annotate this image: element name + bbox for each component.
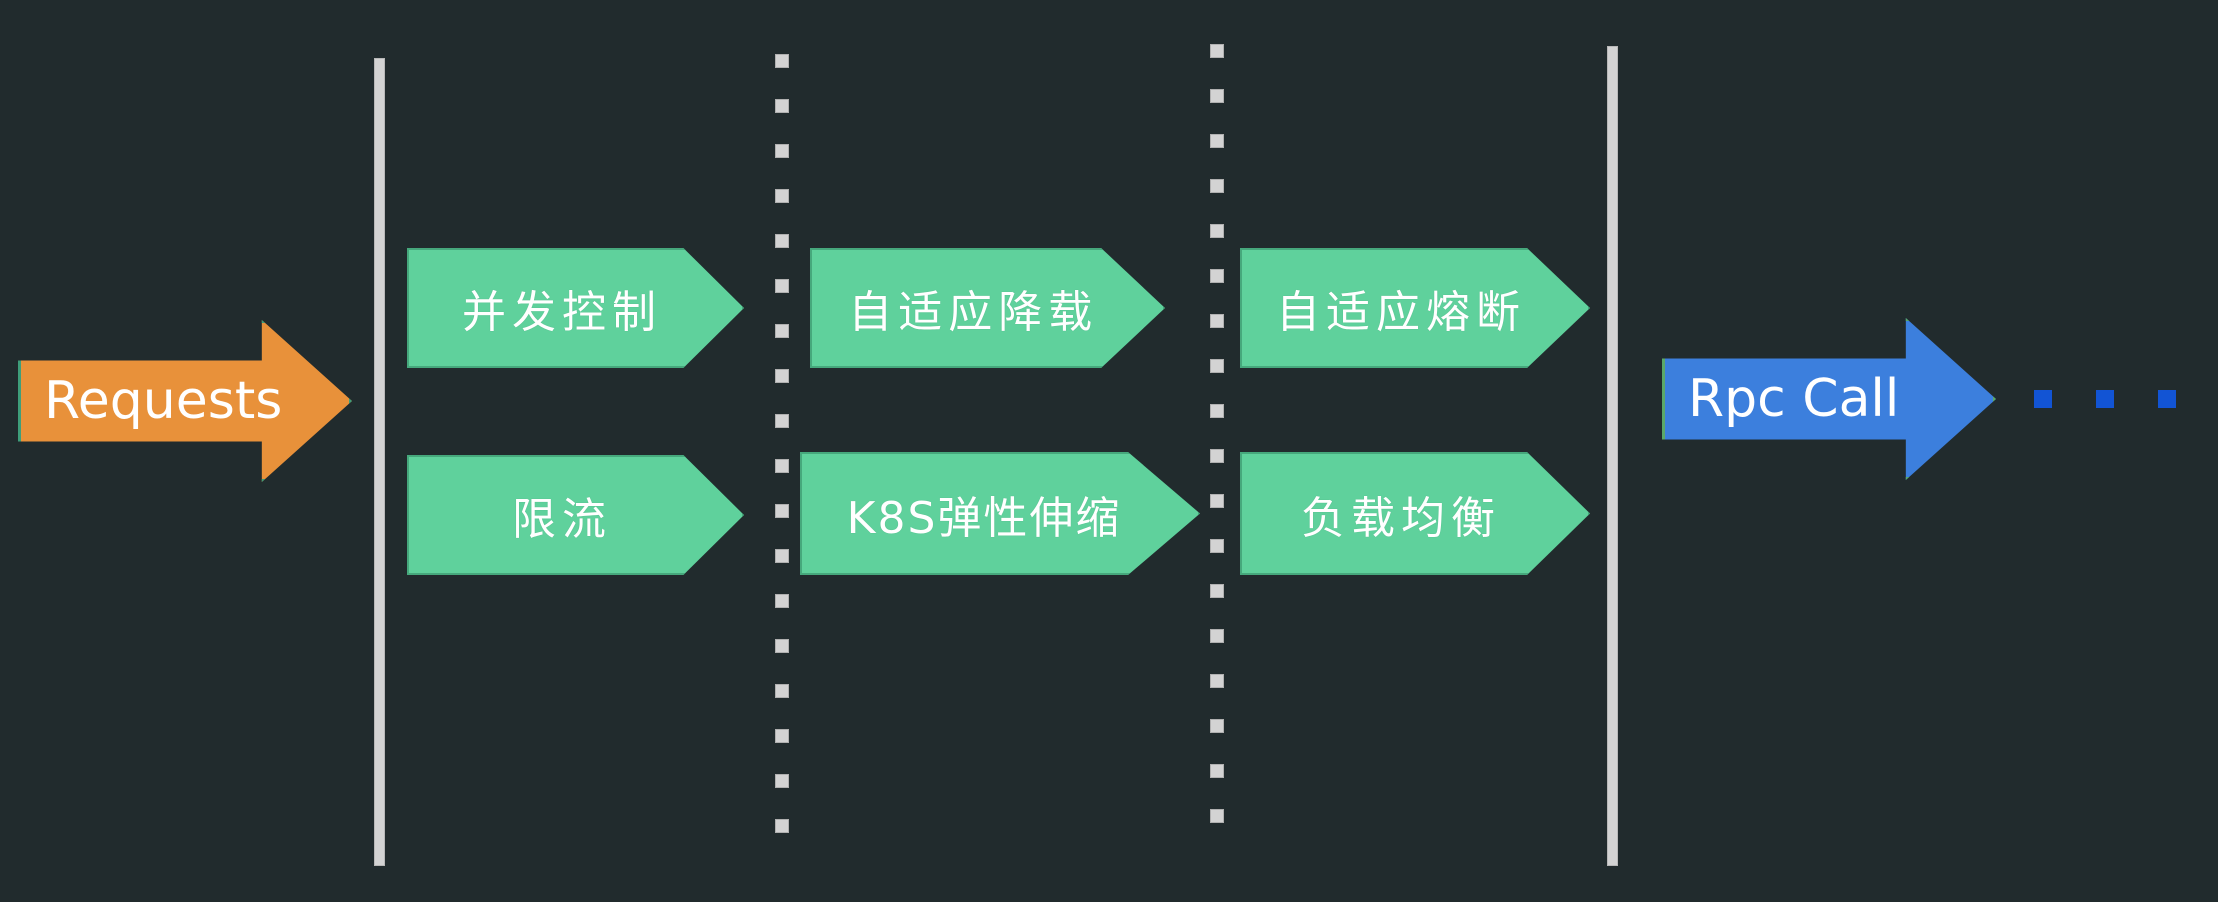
divider-dot: [1210, 809, 1224, 823]
stage-2-item-0-label: 自适应降载: [848, 276, 1098, 340]
divider-dot: [775, 594, 789, 608]
divider-dot: [775, 684, 789, 698]
divider-dot: [775, 414, 789, 428]
stage-3-item-1[interactable]: 负载均衡: [1240, 452, 1590, 575]
divider-stage-split-1: [775, 54, 789, 844]
divider-dot: [1210, 89, 1224, 103]
stage-2-item-1[interactable]: K8S弹性伸缩: [800, 452, 1200, 575]
stage-1-item-0-label: 并发控制: [462, 276, 662, 340]
trailing-dot: [2034, 390, 2052, 408]
divider-dot: [1210, 269, 1224, 283]
divider-dot: [1210, 179, 1224, 193]
divider-dot: [1210, 629, 1224, 643]
stage-2-item-0[interactable]: 自适应降载: [810, 248, 1165, 368]
requests-arrow[interactable]: Requests: [18, 320, 352, 482]
divider-dot: [1210, 44, 1224, 58]
divider-dot: [775, 729, 789, 743]
rpc-call-arrow[interactable]: Rpc Call: [1662, 318, 1996, 480]
divider-boundary-right: [1607, 46, 1618, 866]
divider-dot: [1210, 134, 1224, 148]
divider-dot: [1210, 314, 1224, 328]
divider-dot: [775, 819, 789, 833]
divider-dot: [1210, 449, 1224, 463]
divider-dot: [1210, 404, 1224, 418]
divider-dot: [775, 54, 789, 68]
divider-dot: [775, 504, 789, 518]
stage-2-item-1-label: K8S弹性伸缩: [847, 482, 1122, 546]
divider-dot: [1210, 359, 1224, 373]
divider-dot: [1210, 764, 1224, 778]
trailing-dots: [2034, 390, 2218, 408]
stage-3-item-1-label: 负载均衡: [1301, 482, 1501, 546]
stage-3-item-0[interactable]: 自适应熔断: [1240, 248, 1590, 368]
trailing-dot: [2096, 390, 2114, 408]
divider-dot: [775, 639, 789, 653]
divider-dot: [775, 549, 789, 563]
divider-boundary-left: [374, 58, 385, 866]
stage-1-item-1-label: 限流: [512, 483, 612, 547]
stage-3-item-0-label: 自适应熔断: [1276, 276, 1526, 340]
divider-dot: [1210, 224, 1224, 238]
divider-dot: [1210, 494, 1224, 508]
stage-1-item-1[interactable]: 限流: [407, 455, 744, 575]
requests-arrow-label: Requests: [18, 371, 282, 431]
divider-dot: [1210, 539, 1224, 553]
stage-1-item-0[interactable]: 并发控制: [407, 248, 744, 368]
divider-dot: [775, 324, 789, 338]
divider-dot: [775, 774, 789, 788]
divider-dot: [775, 279, 789, 293]
trailing-dot: [2158, 390, 2176, 408]
divider-dot: [775, 369, 789, 383]
divider-dot: [775, 99, 789, 113]
rpc-call-arrow-label: Rpc Call: [1662, 369, 1899, 429]
divider-dot: [775, 234, 789, 248]
divider-dot: [1210, 719, 1224, 733]
divider-dot: [775, 459, 789, 473]
divider-dot: [775, 144, 789, 158]
divider-dot: [1210, 674, 1224, 688]
divider-stage-split-2: [1210, 44, 1224, 834]
diagram-canvas: Requests 并发控制 限流 自适应降载 K8S弹性伸缩 自适应熔断 负载均…: [0, 0, 2218, 902]
divider-dot: [1210, 584, 1224, 598]
divider-dot: [775, 189, 789, 203]
